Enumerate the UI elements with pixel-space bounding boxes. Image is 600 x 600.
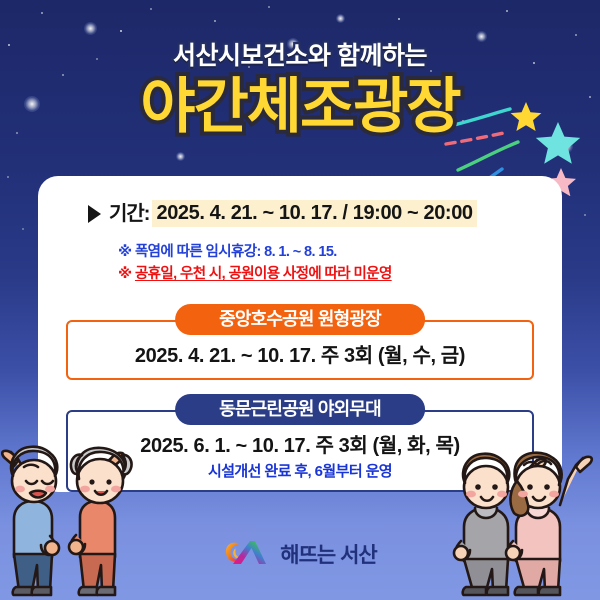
sunrise-swirl-logo-icon (223, 537, 271, 574)
venue-schedule: 2025. 4. 21. ~ 10. 17. 주 3회 (월, 수, 금) (78, 344, 522, 369)
note-heatwave: ※ 폭염에 따른 임시휴강: 8. 1. ~ 8. 15. (118, 241, 540, 263)
triangle-right-icon (88, 205, 101, 223)
poster-root: 서산시보건소와 함께하는 야간체조광장 기간: 2025. 4. 21. ~ 1… (0, 0, 600, 600)
elderly-couple-exercising-icon (0, 439, 182, 600)
note-mark: ※ (118, 266, 132, 282)
period-label: 기간: (109, 204, 149, 224)
note-text: 폭염에 따른 임시휴강: 8. 1. ~ 8. 15. (135, 244, 337, 260)
venue-block-1: 중앙호수공원 원형광장 2025. 4. 21. ~ 10. 17. 주 3회 … (66, 320, 534, 380)
period-value: 2025. 4. 21. ~ 10. 17. / 19:00 ~ 20:00 (152, 200, 476, 227)
headline-title: 야간체조광장 (0, 75, 600, 138)
young-couple-exercising-icon (442, 449, 600, 600)
headline-subtitle: 서산시보건소와 함께하는 (0, 44, 600, 69)
logo-text: 해뜨는 서산 (280, 545, 376, 566)
venue-name: 중앙호수공원 원형광장 (175, 304, 425, 335)
note-text: 공휴일, 우천 시, 공원이용 사정에 따라 미운영 (135, 266, 392, 282)
venue-name: 동문근린공원 야외무대 (175, 394, 425, 425)
poster-headline: 서산시보건소와 함께하는 야간체조광장 (0, 44, 600, 138)
period-row: 기간: 2025. 4. 21. ~ 10. 17. / 19:00 ~ 20:… (88, 200, 540, 227)
note-closure: ※ 공휴일, 우천 시, 공원이용 사정에 따라 미운영 (118, 263, 540, 285)
note-mark: ※ (118, 244, 132, 260)
